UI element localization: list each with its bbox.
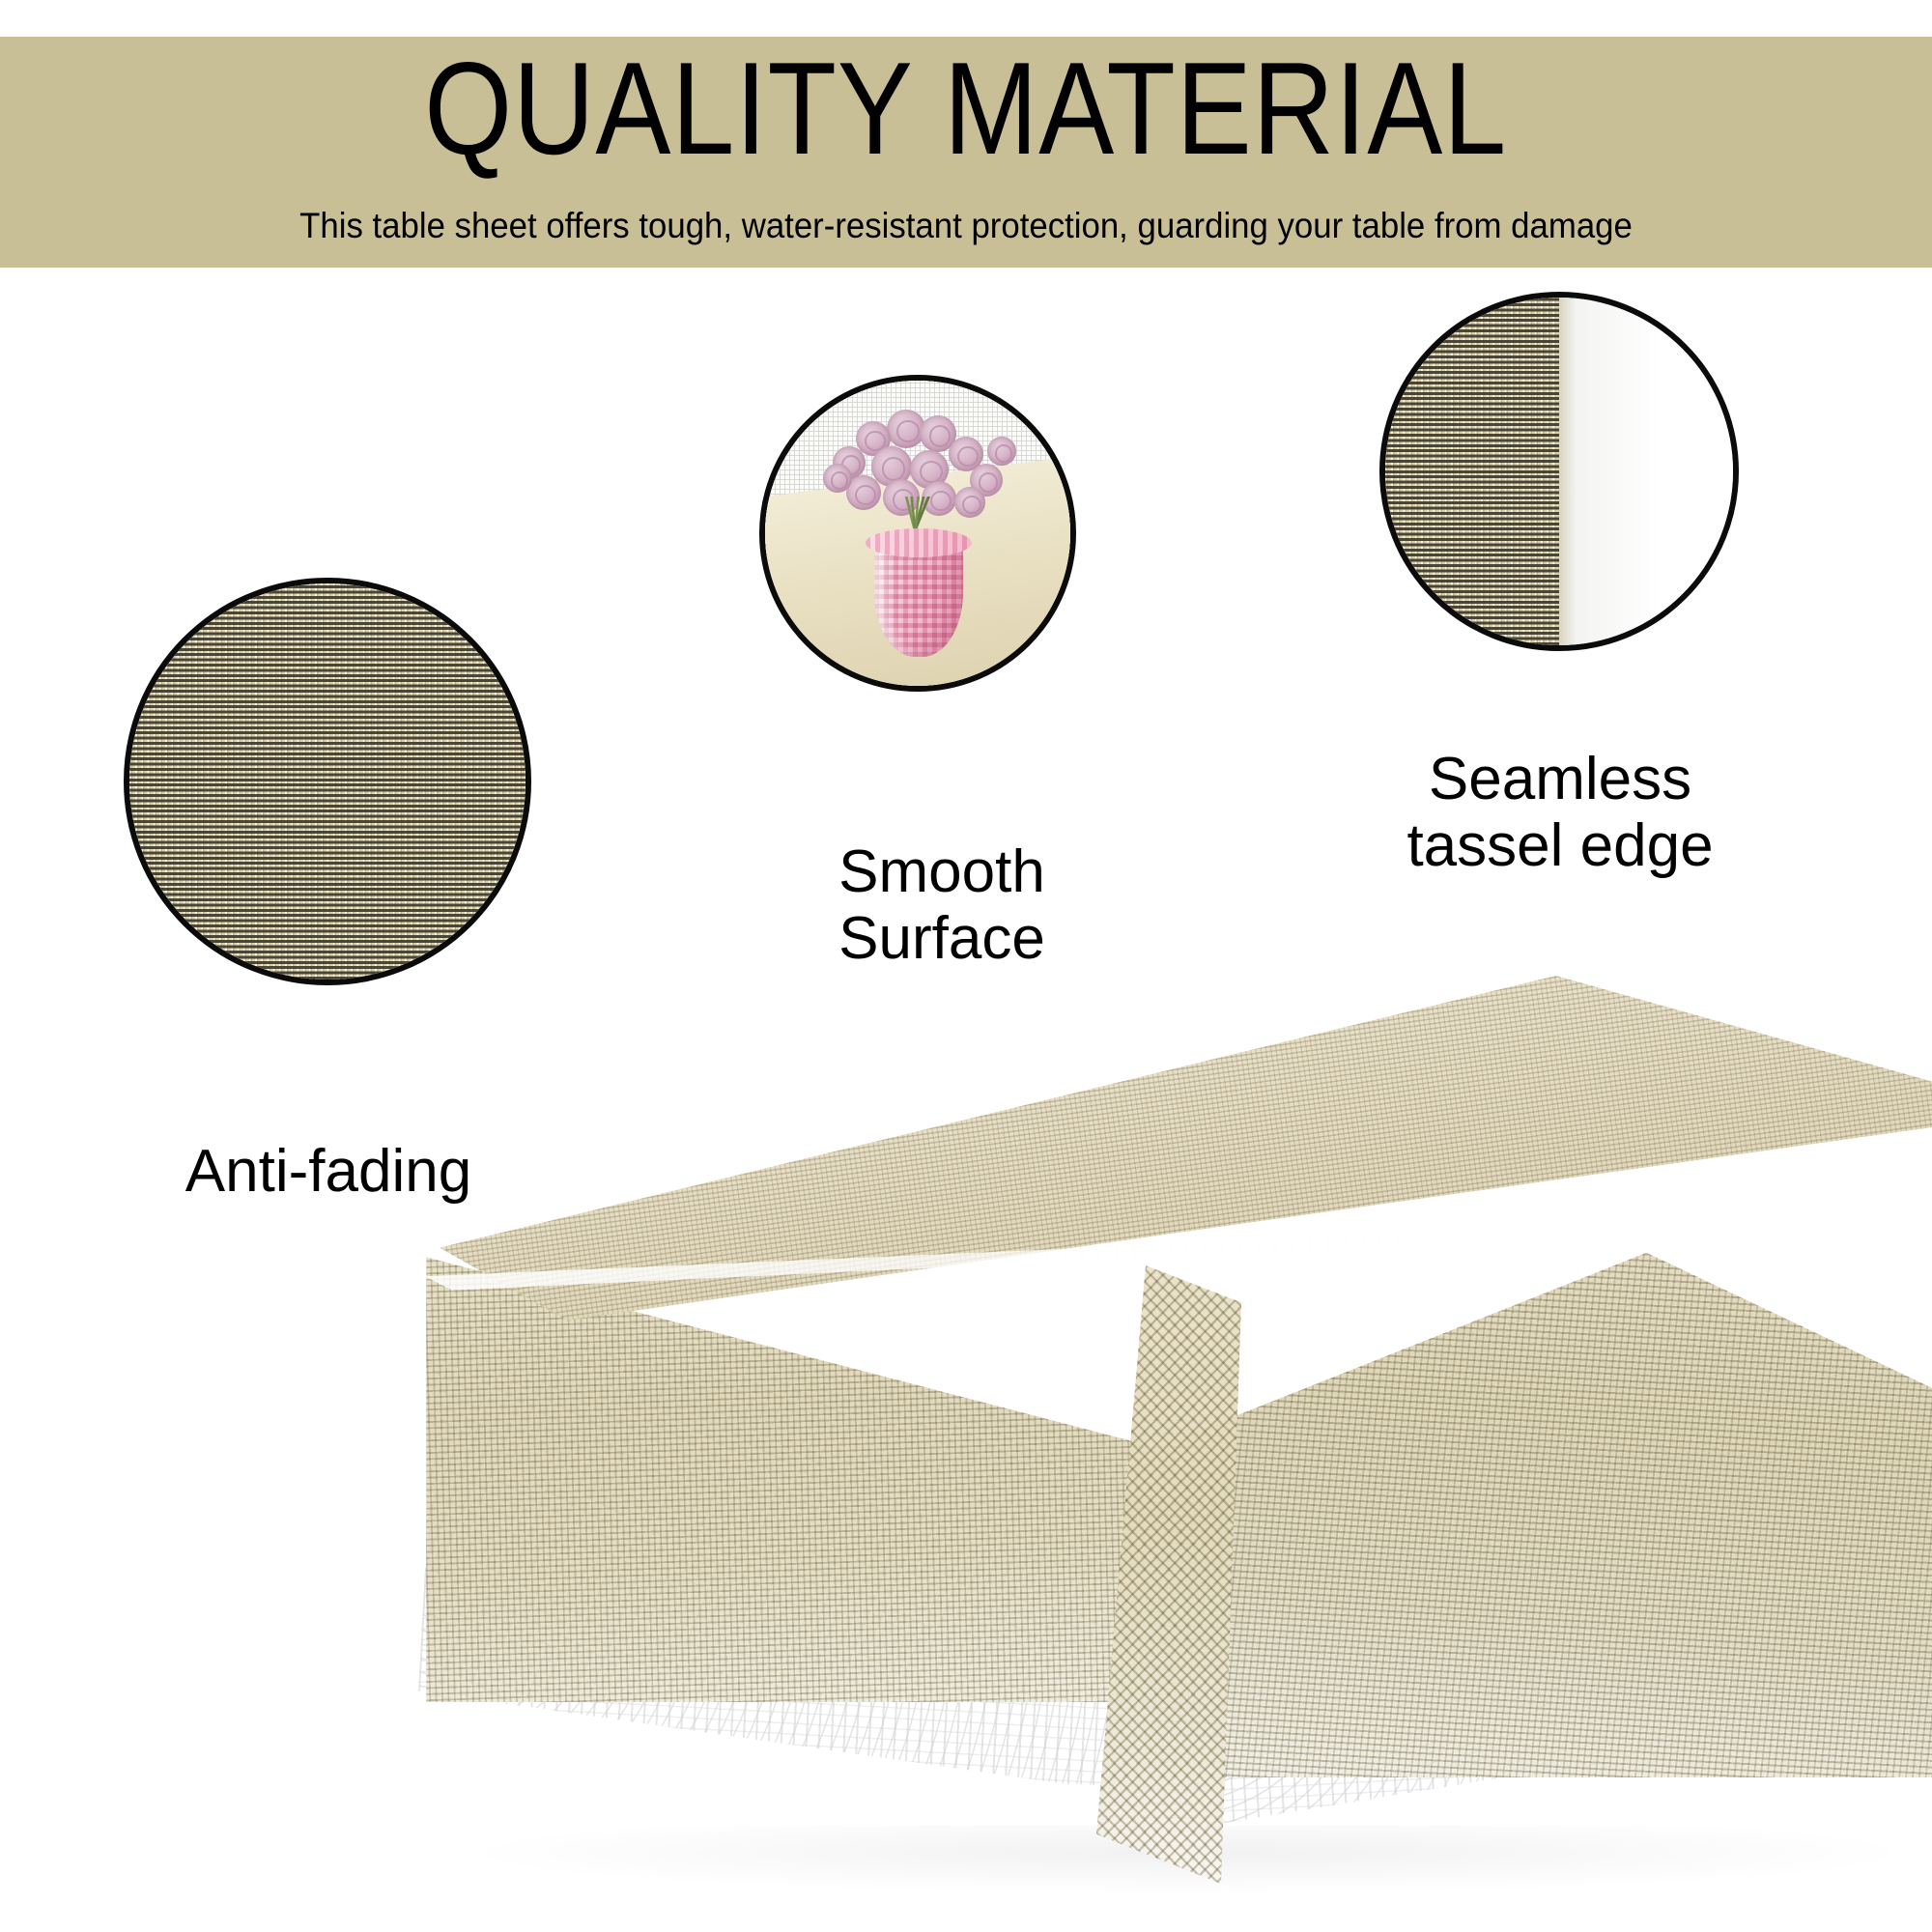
tassel-edge-swatch-circle [1379, 292, 1739, 651]
callout-seamless-tassel-edge: Seamless tassel edge [0, 0, 359, 359]
page-title: QUALITY MATERIAL [425, 43, 1508, 174]
seam-transition [1559, 298, 1577, 645]
anti-fading-label: Anti-fading [87, 1138, 570, 1205]
smooth-surface-photo-circle [759, 375, 1076, 692]
tablecloth-drape-right [1150, 1236, 1932, 1777]
fabric-weave-texture [1385, 298, 1566, 645]
mosaic-vase [874, 533, 963, 657]
product-photo [415, 976, 1932, 1932]
tablecloth-drape-left [423, 1248, 1196, 1702]
anti-fading-swatch-circle [124, 578, 531, 985]
smooth-surface-label: Smooth Surface [734, 838, 1150, 973]
white-lace-edge [1559, 298, 1733, 645]
seamless-tassel-edge-label: Seamless tassel edge [1285, 746, 1835, 880]
fabric-weave-texture [129, 583, 526, 980]
